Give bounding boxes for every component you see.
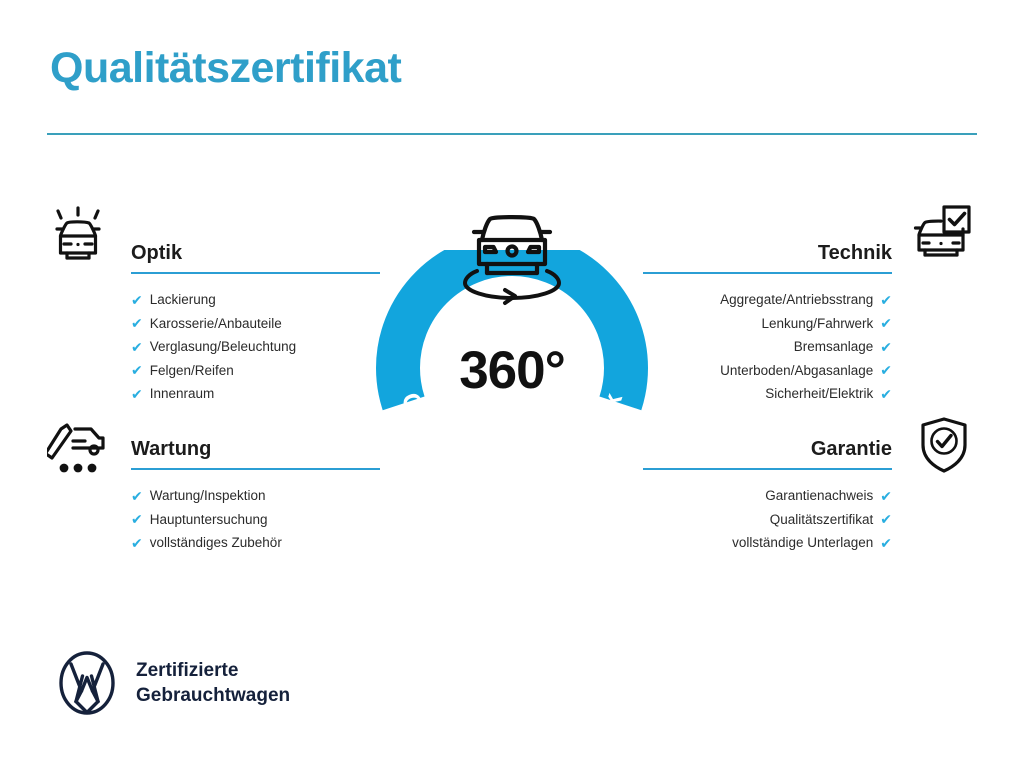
- check-icon: ✔: [880, 363, 892, 377]
- car-service-dipstick-icon: [47, 416, 109, 483]
- section-technik: Technik Aggregate/Antriebsstrang✔ Lenkun…: [643, 243, 892, 406]
- list-item-label: Lackierung: [150, 288, 216, 312]
- car-rotation-icon: [452, 196, 572, 306]
- header-divider: [47, 133, 977, 135]
- list-item: Aggregate/Antriebsstrang✔: [643, 288, 892, 312]
- section-garantie: Garantie Garantienachweis✔ Qualitätszert…: [643, 439, 892, 555]
- check-icon: ✔: [131, 340, 143, 354]
- list-item: ✔Lackierung: [131, 288, 380, 312]
- list-item-label: Wartung/Inspektion: [150, 484, 266, 508]
- list-item: ✔vollständiges Zubehör: [131, 531, 380, 555]
- list-item: ✔Wartung/Inspektion: [131, 484, 380, 508]
- list-item-label: Sicherheit/Elektrik: [765, 382, 873, 406]
- list-item: ✔Hauptuntersuchung: [131, 508, 380, 532]
- list-item-label: vollständiges Zubehör: [150, 531, 282, 555]
- vw-footer-line2: Gebrauchtwagen: [136, 683, 290, 708]
- check-list-garantie: Garantienachweis✔ Qualitätszertifikat✔ v…: [643, 484, 892, 555]
- car-polish-icon: [47, 204, 109, 271]
- check-icon: ✔: [880, 536, 892, 550]
- 360-check-badge: Gebrauchtwagen-Check 360°: [374, 196, 650, 486]
- list-item-label: Hauptuntersuchung: [150, 508, 268, 532]
- list-item: ✔Verglasung/Beleuchtung: [131, 335, 380, 359]
- section-title-garantie: Garantie: [643, 439, 892, 459]
- check-icon: ✔: [880, 316, 892, 330]
- check-icon: ✔: [880, 387, 892, 401]
- check-icon: ✔: [131, 363, 143, 377]
- list-item-label: Bremsanlage: [794, 335, 874, 359]
- check-icon: ✔: [880, 340, 892, 354]
- list-item-label: Lenkung/Fahrwerk: [761, 312, 873, 336]
- list-item: Bremsanlage✔: [643, 335, 892, 359]
- section-wartung: Wartung ✔Wartung/Inspektion ✔Hauptunters…: [131, 439, 380, 555]
- check-icon: ✔: [131, 316, 143, 330]
- check-icon: ✔: [131, 536, 143, 550]
- page-title: Qualitätszertifikat: [50, 47, 401, 90]
- badge-arc-text: Gebrauchtwagen-Check: [396, 389, 629, 486]
- check-list-wartung: ✔Wartung/Inspektion ✔Hauptuntersuchung ✔…: [131, 484, 380, 555]
- list-item: ✔Karosserie/Anbauteile: [131, 312, 380, 336]
- section-rule-wartung: [131, 468, 380, 470]
- check-icon: ✔: [131, 512, 143, 526]
- list-item-label: Aggregate/Antriebsstrang: [720, 288, 873, 312]
- list-item-label: Felgen/Reifen: [150, 359, 234, 383]
- vw-logo: [58, 651, 116, 715]
- check-icon: ✔: [880, 489, 892, 503]
- list-item: ✔Innenraum: [131, 382, 380, 406]
- list-item-label: Karosserie/Anbauteile: [150, 312, 282, 336]
- list-item: vollständige Unterlagen✔: [643, 531, 892, 555]
- badge-degrees: 360°: [374, 344, 650, 397]
- list-item: Qualitätszertifikat✔: [643, 508, 892, 532]
- section-rule-optik: [131, 272, 380, 274]
- list-item: ✔Felgen/Reifen: [131, 359, 380, 383]
- check-list-technik: Aggregate/Antriebsstrang✔ Lenkung/Fahrwe…: [643, 288, 892, 406]
- list-item-label: vollständige Unterlagen: [732, 531, 873, 555]
- section-rule-technik: [643, 272, 892, 274]
- section-rule-garantie: [643, 468, 892, 470]
- check-icon: ✔: [880, 293, 892, 307]
- list-item: Unterboden/Abgasanlage✔: [643, 359, 892, 383]
- vw-footer: Zertifizierte Gebrauchtwagen: [58, 651, 290, 715]
- list-item-label: Unterboden/Abgasanlage: [720, 359, 873, 383]
- section-title-wartung: Wartung: [131, 439, 380, 459]
- svg-text:Gebrauchtwagen-Check: Gebrauchtwagen-Check: [396, 389, 629, 486]
- list-item-label: Verglasung/Beleuchtung: [150, 335, 296, 359]
- list-item-label: Qualitätszertifikat: [770, 508, 874, 532]
- check-list-optik: ✔Lackierung ✔Karosserie/Anbauteile ✔Verg…: [131, 288, 380, 406]
- section-title-optik: Optik: [131, 243, 380, 263]
- list-item: Sicherheit/Elektrik✔: [643, 382, 892, 406]
- vw-footer-text: Zertifizierte Gebrauchtwagen: [136, 658, 290, 708]
- certificate-page: Qualitätszertifikat: [0, 0, 1024, 768]
- vw-footer-line1: Zertifizierte: [136, 658, 290, 683]
- check-icon: ✔: [131, 387, 143, 401]
- section-optik: Optik ✔Lackierung ✔Karosserie/Anbauteile…: [131, 243, 380, 406]
- check-icon: ✔: [880, 512, 892, 526]
- list-item-label: Garantienachweis: [765, 484, 873, 508]
- section-title-technik: Technik: [643, 243, 892, 263]
- list-item: Garantienachweis✔: [643, 484, 892, 508]
- shield-check-icon: [919, 416, 969, 479]
- list-item: Lenkung/Fahrwerk✔: [643, 312, 892, 336]
- check-icon: ✔: [131, 489, 143, 503]
- check-icon: ✔: [131, 293, 143, 307]
- list-item-label: Innenraum: [150, 382, 215, 406]
- car-checkbox-icon: [911, 204, 973, 271]
